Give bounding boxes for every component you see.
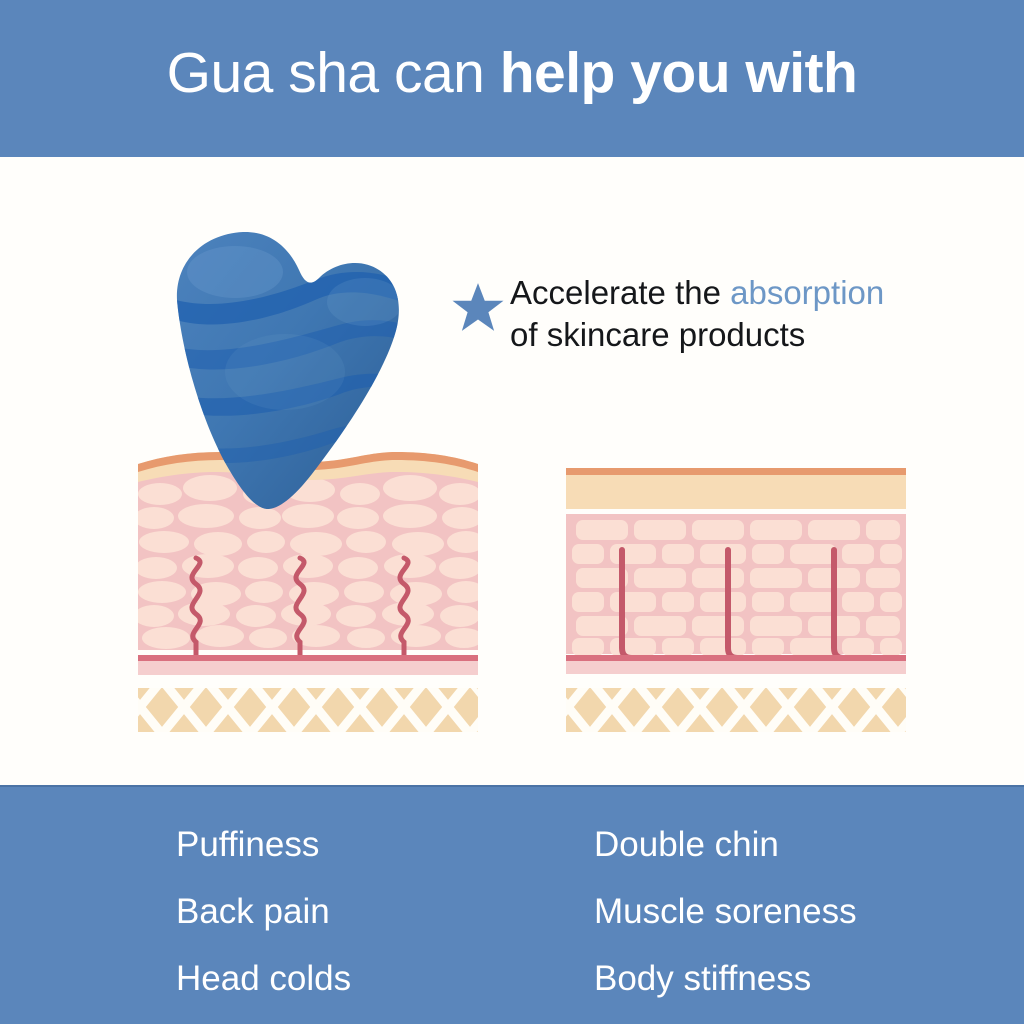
list-item: Body stiffness (594, 959, 857, 999)
benefits-column-left: Puffiness Back pain Head colds (176, 825, 351, 1024)
star-icon (452, 282, 504, 332)
page-title-bold: help you with (500, 41, 858, 105)
dermis-layer (566, 514, 906, 674)
infographic-canvas: Gua sha can help you with (0, 0, 1024, 1024)
skin-surface-line (566, 468, 906, 476)
page-title: Gua sha can help you with (0, 40, 1024, 106)
benefit-text: Accelerate the absorption of skincare pr… (510, 272, 1010, 356)
dermis-base-line (138, 655, 478, 661)
benefit-line2: of skincare products (510, 314, 1010, 356)
subcutaneous-fat-layer (566, 680, 906, 734)
benefit-line1-accent: absorption (730, 274, 884, 311)
skin-cross-section-right (566, 462, 906, 734)
gua-sha-stone (165, 222, 415, 512)
page-title-regular: Gua sha can (167, 41, 500, 105)
list-item: Head colds (176, 959, 351, 999)
list-item: Back pain (176, 892, 351, 932)
header-band: Gua sha can help you with (0, 0, 1024, 157)
subcutaneous-fat-layer (138, 680, 478, 734)
list-item: Muscle soreness (594, 892, 857, 932)
benefit-line1-lead: Accelerate the (510, 274, 730, 311)
footer-band: Puffiness Back pain Head colds Double ch… (0, 785, 1024, 1024)
list-item: Puffiness (176, 825, 351, 865)
benefits-column-right: Double chin Muscle soreness Body stiffne… (594, 825, 857, 1024)
hypodermis-top (566, 661, 906, 674)
dermis-base-line (566, 655, 906, 661)
list-item: Double chin (594, 825, 857, 865)
epidermis-layer (566, 475, 906, 509)
hypodermis-top (138, 661, 478, 675)
